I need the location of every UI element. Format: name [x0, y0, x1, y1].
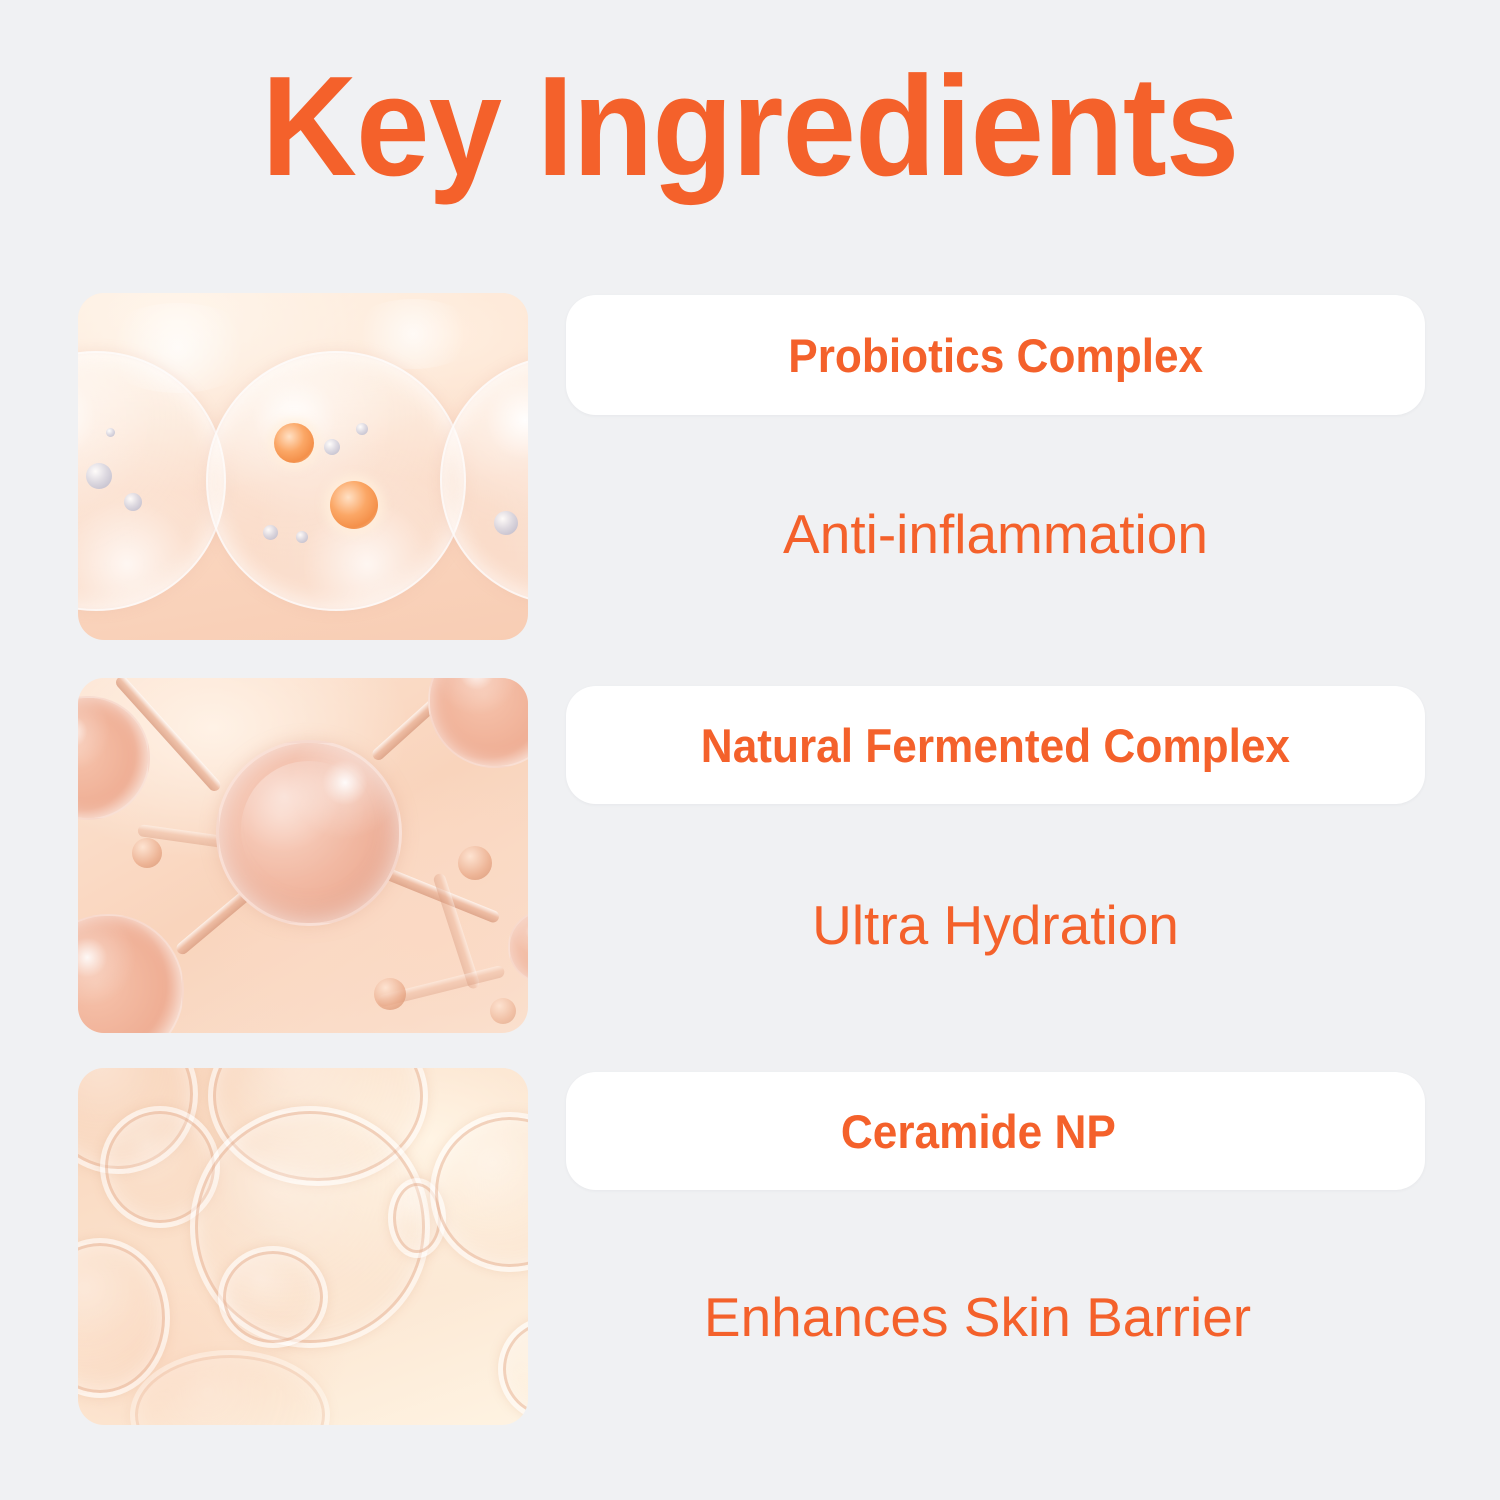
particle-dot [356, 423, 368, 435]
molecular-node [458, 846, 492, 880]
oil-image-backdrop [78, 1068, 528, 1425]
molecule-sphere [78, 914, 184, 1033]
molecular-node [132, 838, 162, 868]
ingredient-name-1: Probiotics Complex [788, 328, 1203, 383]
particle-dot [263, 525, 278, 540]
molecular-node [490, 998, 516, 1024]
particle-dot [106, 428, 115, 437]
particle-dot [296, 531, 308, 543]
page-title: Key Ingredients [53, 56, 1448, 198]
molecule-sphere-primary [216, 740, 402, 926]
ingredient-name-card-2: Natural Fermented Complex [566, 686, 1425, 804]
oil-ring [430, 1112, 528, 1272]
bubble-sphere [206, 351, 466, 611]
probiotic-bubbles-image [78, 293, 528, 640]
probiotic-image-backdrop [78, 293, 528, 640]
oil-droplet-rings-image [78, 1068, 528, 1425]
bubble-sphere [440, 355, 528, 605]
probiotic-microsphere [274, 423, 314, 463]
ingredient-name-card-1: Probiotics Complex [566, 295, 1425, 415]
molecule-sphere [428, 678, 528, 768]
molecular-node [374, 978, 406, 1010]
ingredient-name-card-3: Ceramide NP [566, 1072, 1425, 1190]
molecular-structure-image [78, 678, 528, 1033]
oil-ring [130, 1350, 330, 1425]
oil-ring [498, 1316, 528, 1422]
molecule-image-backdrop [78, 678, 528, 1033]
ingredient-benefit-2: Ultra Hydration [566, 893, 1425, 957]
oil-ring [218, 1246, 328, 1348]
particle-dot [86, 463, 112, 489]
molecule-sphere [78, 696, 150, 820]
ingredient-name-3: Ceramide NP [841, 1104, 1116, 1159]
molecule-sphere [508, 910, 528, 984]
ingredient-name-2: Natural Fermented Complex [701, 718, 1290, 773]
particle-dot [494, 511, 518, 535]
ingredient-benefit-3: Enhances Skin Barrier [548, 1285, 1407, 1349]
particle-dot [324, 439, 340, 455]
probiotic-microsphere [330, 481, 378, 529]
particle-dot [124, 493, 142, 511]
ingredient-benefit-1: Anti-inflammation [566, 502, 1425, 566]
